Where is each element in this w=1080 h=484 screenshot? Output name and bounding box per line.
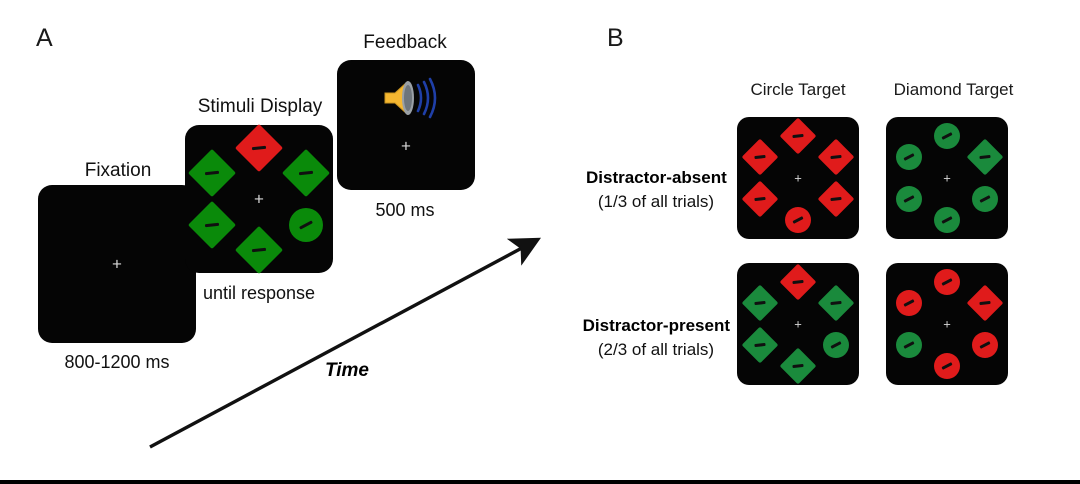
line-segment [754,301,765,305]
stimulus-circle-nontarget [972,186,998,212]
fixation-cross: + [794,318,802,331]
row-label-distractor-present: Distractor-present [582,316,730,336]
stimulus-circle-nontarget [934,207,960,233]
line-segment [754,155,765,159]
stimulus-diamond-target [972,290,998,316]
stimulus-circle-nontarget [896,144,922,170]
row-label-distractor-absent: Distractor-absent [586,168,726,188]
stimulus-diamond-nontarget [823,186,849,212]
stimulus-diamond-nontarget [747,290,773,316]
panel-b-letter: B [607,24,624,53]
stimulus-circle-nontarget [934,123,960,149]
stimulus-diamond-distractor [785,269,811,295]
stimulus-circle-nontarget [934,353,960,379]
stimulus-diamond-nontarget [785,353,811,379]
stimulus-circle-distractor [896,332,922,358]
stimulus-diamond-nontarget [747,144,773,170]
stimulus-circle-target [785,207,811,233]
time-arrow [0,0,560,484]
time-arrow-label: Time [325,360,369,382]
stimulus-circle-nontarget [896,290,922,316]
stimulus-diamond-nontarget [747,186,773,212]
fixation-cross: + [943,172,951,185]
display-diamond-target-distractor-absent: + [886,117,1008,239]
stimulus-circle-target [823,332,849,358]
figure-root: A Fixation + 800-1200 ms Stimuli Display… [0,0,1080,484]
row-sublabel-distractor-present: (2/3 of all trials) [586,340,726,360]
display-circle-target-distractor-present: + [737,263,859,385]
stimulus-circle-nontarget [934,269,960,295]
stimulus-diamond-target [972,144,998,170]
fixation-cross: + [943,318,951,331]
display-circle-target-distractor-absent: + [737,117,859,239]
row-sublabel-distractor-absent: (1/3 of all trials) [586,192,726,212]
display-diamond-target-distractor-present: + [886,263,1008,385]
stimulus-diamond-nontarget [747,332,773,358]
stimulus-diamond-nontarget [823,144,849,170]
stimulus-diamond-nontarget [823,290,849,316]
stimulus-circle-nontarget [972,332,998,358]
fixation-cross: + [794,172,802,185]
column-header-circle-target: Circle Target [718,80,878,100]
column-header-diamond-target: Diamond Target [866,80,1041,100]
stimulus-diamond-nontarget [785,123,811,149]
stimulus-circle-nontarget [896,186,922,212]
